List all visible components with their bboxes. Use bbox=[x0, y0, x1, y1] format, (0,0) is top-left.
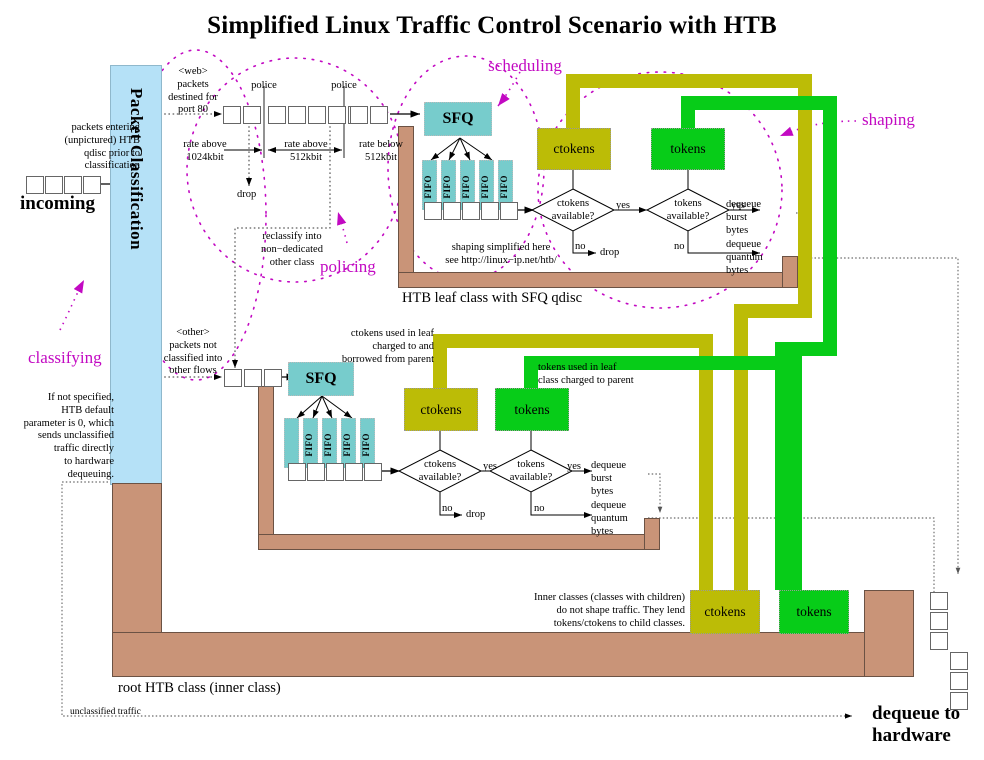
sfq-top: SFQ bbox=[424, 102, 492, 136]
annotation-scheduling: scheduling bbox=[470, 56, 580, 77]
fifo-label: FIFO bbox=[304, 433, 317, 457]
fifo-bottom-3: FIFO bbox=[341, 418, 356, 468]
yes-label-tokens-bottom: yes bbox=[567, 461, 591, 474]
dequeue-to-hardware-label: dequeue to hardware bbox=[872, 703, 984, 747]
rate-below-512-label: rate below 512kbit bbox=[352, 139, 410, 165]
leaf-top-queue-packet bbox=[424, 202, 442, 220]
fifo-label: FIFO bbox=[442, 175, 455, 199]
police-label-2: police bbox=[319, 80, 369, 93]
annotation-shaping: shaping bbox=[862, 110, 962, 131]
incoming-label: incoming bbox=[20, 192, 150, 215]
leaf-top-queue-packet bbox=[462, 202, 480, 220]
dequeue-quantum-top: dequeue quantum bytes bbox=[726, 239, 788, 277]
no-label-tokens-bottom: no bbox=[534, 503, 554, 516]
pipe-tokens-top-horizontal bbox=[681, 96, 837, 110]
leaf-bottom-queue-packet bbox=[345, 463, 363, 481]
fifo-bottom-0 bbox=[284, 418, 299, 468]
root-htb-bottom-bar bbox=[112, 632, 914, 677]
leaf-bottom-queue-packet bbox=[364, 463, 382, 481]
rate-above-1024-label: rate above 1024kbit bbox=[176, 139, 234, 165]
web-queue-packet bbox=[370, 106, 388, 124]
egress-packet-col1 bbox=[930, 592, 948, 610]
other-queue-packet bbox=[264, 369, 282, 387]
leaf-top-queue-packet bbox=[443, 202, 461, 220]
leaf-bottom-queue-packet bbox=[307, 463, 325, 481]
tokens-box-root: tokens bbox=[779, 590, 849, 634]
police-label-1: police bbox=[239, 80, 289, 93]
drop-label-top: drop bbox=[600, 247, 634, 260]
pipe-ctokens-bottom-to-root bbox=[699, 334, 713, 590]
egress-packet-col1 bbox=[930, 632, 948, 650]
ctokens-borrow-note: ctokens used in leaf charged to and borr… bbox=[330, 328, 434, 366]
annotation-policing: policing bbox=[320, 257, 420, 278]
decision-ctokens-bottom: ctokens available? bbox=[404, 459, 476, 485]
sfq-bottom: SFQ bbox=[288, 362, 354, 396]
no-label-ctokens-top: no bbox=[575, 241, 595, 254]
other-filter-label: <other> packets not classified into othe… bbox=[157, 327, 229, 378]
pipe-tokens-top-to-root bbox=[775, 342, 789, 590]
htb-default-note: If not specified, HTB default parameter … bbox=[10, 392, 114, 482]
egress-packet-col1 bbox=[930, 612, 948, 630]
tokens-box-leaf-bottom: tokens bbox=[495, 388, 569, 431]
unclassified-traffic-label: unclassified traffic bbox=[70, 707, 210, 719]
fifo-label: FIFO bbox=[461, 175, 474, 199]
fifo-label: FIFO bbox=[323, 433, 336, 457]
ctokens-box-leaf-top: ctokens bbox=[537, 128, 611, 170]
web-filter-label: <web> packets destined for port 80 bbox=[155, 66, 231, 117]
dequeue-burst-top: dequeue burst bytes bbox=[726, 199, 786, 237]
ingress-note: packets entering (unpictured) HTB qdisc … bbox=[14, 122, 140, 173]
fifo-label: FIFO bbox=[423, 175, 436, 199]
ctokens-box-root: ctokens bbox=[690, 590, 760, 634]
fifo-label: FIFO bbox=[480, 175, 493, 199]
shaping-simplified-note: shaping simplified here see http://linux… bbox=[414, 242, 588, 268]
web-queue-packet bbox=[308, 106, 326, 124]
leaf-top-queue-packet bbox=[500, 202, 518, 220]
fifo-label: FIFO bbox=[342, 433, 355, 457]
htb-leaf-bottom-left-bar bbox=[258, 386, 274, 550]
web-queue-packet bbox=[288, 106, 306, 124]
dequeue-quantum-bottom: dequeue quantum bytes bbox=[591, 500, 653, 538]
pipe-ctokens-bottom-horizontal bbox=[433, 334, 713, 348]
web-queue-packet bbox=[268, 106, 286, 124]
leaf-top-caption: HTB leaf class with SFQ qdisc bbox=[402, 290, 662, 308]
pipe-ctokens-top-horizontal bbox=[566, 74, 812, 88]
leaf-bottom-queue-packet bbox=[288, 463, 306, 481]
root-htb-right-bar bbox=[864, 590, 914, 677]
pipe-ctokens-top-to-root bbox=[734, 304, 748, 590]
root-caption: root HTB class (inner class) bbox=[118, 680, 418, 698]
dequeue-burst-bottom: dequeue burst bytes bbox=[591, 460, 651, 498]
page-title: Simplified Linux Traffic Control Scenari… bbox=[0, 12, 984, 40]
pipe-tokens-top-down bbox=[823, 96, 837, 356]
tokens-box-leaf-top: tokens bbox=[651, 128, 725, 170]
fifo-bottom-1: FIFO bbox=[303, 418, 318, 468]
inner-class-note: Inner classes (classes with children) do… bbox=[515, 592, 685, 630]
egress-packet-col2 bbox=[950, 652, 968, 670]
web-queue-packet bbox=[328, 106, 346, 124]
leaf-bottom-queue-packet bbox=[326, 463, 344, 481]
no-label-ctokens-bottom: no bbox=[442, 503, 462, 516]
yes-label-ctokens-top: yes bbox=[616, 200, 640, 213]
drop-label-bottom: drop bbox=[466, 509, 500, 522]
web-queue-packet bbox=[350, 106, 368, 124]
fifo-bottom-2: FIFO bbox=[322, 418, 337, 468]
yes-label-ctokens-bottom: yes bbox=[483, 461, 507, 474]
other-queue-packet bbox=[244, 369, 262, 387]
fifo-label: FIFO bbox=[361, 433, 374, 457]
pipe-ctokens-top-down bbox=[798, 74, 812, 318]
rate-above-512-label: rate above 512kbit bbox=[277, 139, 335, 165]
tokens-charge-note: tokens used in leaf class charged to par… bbox=[538, 362, 658, 388]
leaf-top-queue-packet bbox=[481, 202, 499, 220]
egress-packet-col2 bbox=[950, 672, 968, 690]
police-drop-label: drop bbox=[237, 189, 277, 202]
fifo-label: FIFO bbox=[499, 175, 512, 199]
fifo-bottom-4: FIFO bbox=[360, 418, 375, 468]
pipe-tokens-bottom-to-root bbox=[788, 356, 802, 590]
decision-tokens-top: tokens available? bbox=[652, 198, 724, 224]
decision-ctokens-top: ctokens available? bbox=[537, 198, 609, 224]
no-label-tokens-top: no bbox=[674, 241, 694, 254]
ctokens-box-leaf-bottom: ctokens bbox=[404, 388, 478, 431]
web-queue-packet bbox=[243, 106, 261, 124]
annotation-classifying: classifying bbox=[28, 348, 148, 369]
